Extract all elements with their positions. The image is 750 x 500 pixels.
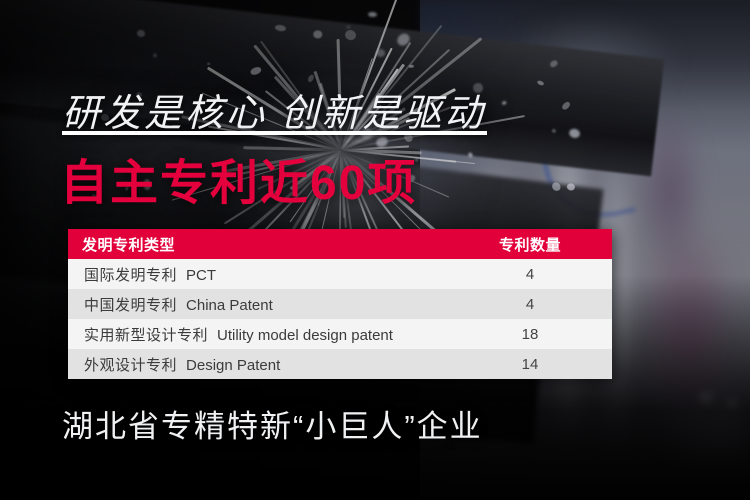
cell-patent-type-en: China Patent — [186, 297, 273, 314]
cell-patent-type-en: PCT — [186, 267, 216, 284]
headline-primary: 研发是核心 创新是驱动 — [62, 82, 486, 137]
table-body: 国际发明专利PCT4中国发明专利China Patent4实用新型设计专利Uti… — [68, 259, 612, 379]
cell-patent-type-cn: 实用新型设计专利 — [84, 327, 208, 344]
cell-patent-type: 实用新型设计专利Utility model design patent — [68, 324, 462, 345]
cell-patent-type-en: Utility model design patent — [217, 327, 393, 344]
cell-patent-type-cn: 国际发明专利 — [84, 267, 177, 284]
cell-patent-type: 国际发明专利PCT — [68, 264, 462, 285]
cell-patent-count: 14 — [462, 356, 612, 373]
banner-content: 研发是核心 创新是驱动 自主专利近60项 发明专利类型 专利数量 国际发明专利P… — [0, 0, 750, 500]
cell-patent-type: 外观设计专利Design Patent — [68, 354, 462, 375]
headline-highlight: 自主专利近60项 — [60, 143, 417, 213]
headline-divider — [62, 131, 487, 135]
cell-patent-count: 18 — [462, 326, 612, 343]
column-header-type: 发明专利类型 — [68, 234, 462, 255]
table-row: 中国发明专利China Patent4 — [68, 289, 612, 319]
cell-patent-type-en: Design Patent — [186, 357, 280, 374]
table-row: 国际发明专利PCT4 — [68, 259, 612, 289]
banner-caption: 湖北省专精特新“小巨人”企业 — [62, 401, 483, 446]
column-header-count: 专利数量 — [462, 234, 612, 255]
patent-table: 发明专利类型 专利数量 国际发明专利PCT4中国发明专利China Patent… — [68, 229, 612, 379]
cell-patent-type-cn: 中国发明专利 — [84, 297, 177, 314]
cell-patent-type-cn: 外观设计专利 — [84, 357, 177, 374]
table-row: 实用新型设计专利Utility model design patent18 — [68, 319, 612, 349]
cell-patent-count: 4 — [462, 266, 612, 283]
cell-patent-count: 4 — [462, 296, 612, 313]
table-header-row: 发明专利类型 专利数量 — [68, 229, 612, 259]
cell-patent-type: 中国发明专利China Patent — [68, 294, 462, 315]
promo-banner: 研发是核心 创新是驱动 自主专利近60项 发明专利类型 专利数量 国际发明专利P… — [0, 0, 750, 500]
table-row: 外观设计专利Design Patent14 — [68, 349, 612, 379]
